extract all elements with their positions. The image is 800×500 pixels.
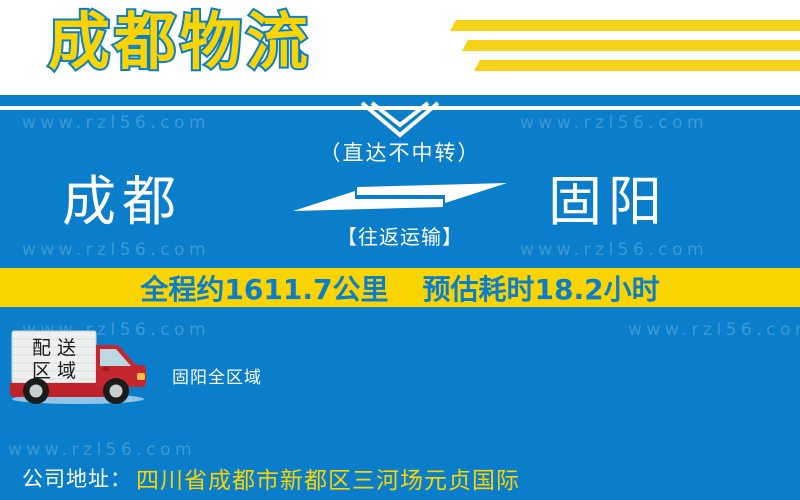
destination-city: 固阳 [548,171,668,233]
stats-band: 全程约1611.7公里 预估耗时18.2小时 [0,268,800,307]
truck-label-line1: 配 送 [32,337,76,359]
stripe-2 [462,40,800,51]
logistics-poster: 成都物流 www.rzl56.com www.rzl56.com www.rzl… [0,0,800,500]
company-address-bar: 公司地址： 四川省成都市新都区三河场元贞国际 [0,456,800,500]
double-arrow-icon [275,177,525,217]
route-note-top: （直达不中转） [275,137,525,167]
stripe-1 [450,20,800,31]
watermark: www.rzl56.com [520,240,708,260]
decorative-stripes [420,14,800,80]
truck-label-line2: 区 域 [32,360,76,382]
duration-text: 预估耗时18.2小时 [422,268,659,308]
page-title: 成都物流 [48,4,312,80]
delivery-truck-icon: 配 送 区 域 [6,327,156,405]
distance-text: 全程约1611.7公里 [140,268,388,308]
poster-body: www.rzl56.com www.rzl56.com www.rzl56.co… [0,95,800,500]
watermark: www.rzl56.com [628,320,800,340]
stripe-3 [474,60,800,71]
route-middle: （直达不中转） 【往返运输】 [275,137,525,250]
route-note-bottom: 【往返运输】 [275,221,525,250]
address-label: 公司地址： [22,463,132,493]
watermark: www.rzl56.com [22,240,210,260]
origin-city: 成都 [62,171,182,233]
delivery-area-text: 固阳全区域 [172,363,262,388]
poster-header: 成都物流 [0,0,800,95]
watermark: www.rzl56.com [520,113,708,133]
watermark: www.rzl56.com [22,113,210,133]
address-value: 四川省成都市新都区三河场元贞国际 [136,461,520,495]
